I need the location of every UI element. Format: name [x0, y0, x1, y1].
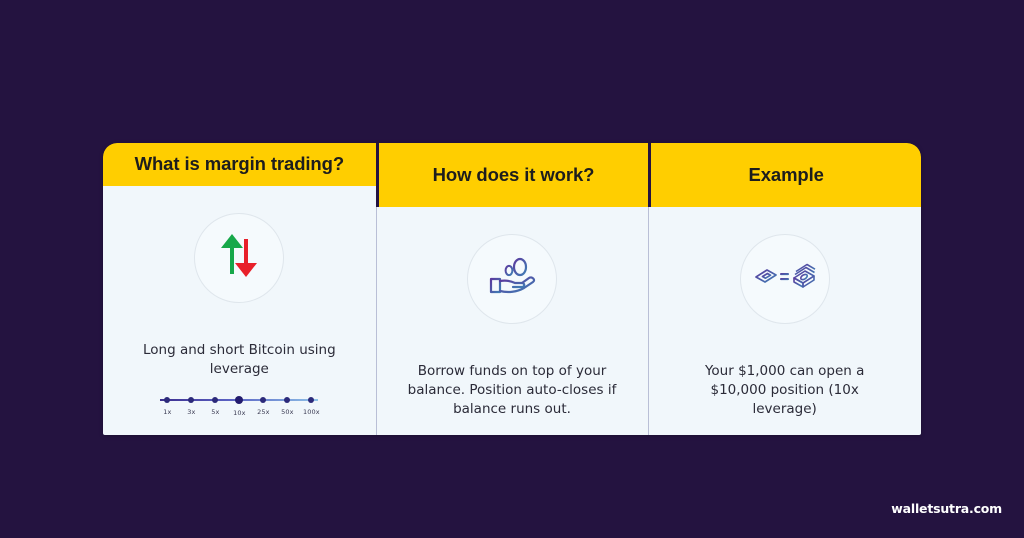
leverage-tick[interactable]: 100x [300, 395, 322, 417]
watermark: walletsutra.com [891, 501, 1002, 516]
leverage-label: 5x [211, 408, 219, 416]
leverage-tick-active[interactable]: 10x [228, 395, 250, 417]
leverage-label: 10x [233, 409, 245, 417]
leverage-tick[interactable]: 5x [204, 395, 226, 417]
leverage-scale-ticks: 1x 3x 5x 10x [156, 395, 322, 417]
leverage-dot [212, 397, 218, 403]
icon-circle-2 [467, 234, 557, 324]
leverage-tick[interactable]: 50x [276, 395, 298, 417]
leverage-label: 25x [257, 408, 269, 416]
column-caption-2: Borrow funds on top of your balance. Pos… [405, 362, 620, 419]
leverage-dot [260, 397, 266, 403]
leverage-dot [235, 396, 243, 404]
column-title-2: How does it work? [433, 164, 595, 186]
banknote-equals-stack-icon [753, 256, 817, 301]
leverage-dot [164, 397, 170, 403]
column-body-3: Your $1,000 can open a $10,000 position … [648, 207, 921, 435]
column-caption-1: Long and short Bitcoin using leverage [132, 341, 347, 379]
comparison-table: What is margin trading? Long and short B… [103, 143, 921, 435]
leverage-tick[interactable]: 1x [156, 395, 178, 417]
column-how-does-it-work: How does it work? [376, 143, 649, 435]
hand-with-coins-icon [486, 254, 538, 303]
column-caption-3: Your $1,000 can open a $10,000 position … [677, 362, 892, 419]
leverage-scale[interactable]: 1x 3x 5x 10x [156, 395, 322, 419]
column-what-is-margin-trading: What is margin trading? Long and short B… [103, 143, 376, 435]
column-header-1: What is margin trading? [103, 143, 376, 186]
column-body-1: Long and short Bitcoin using leverage 1x… [103, 186, 376, 435]
column-example: Example [648, 143, 921, 435]
leverage-label: 1x [163, 408, 171, 416]
slide-canvas: What is margin trading? Long and short B… [0, 0, 1024, 538]
leverage-dot [188, 397, 194, 403]
up-down-arrows-icon [217, 231, 261, 284]
leverage-dot [308, 397, 314, 403]
leverage-tick[interactable]: 25x [252, 395, 274, 417]
column-title-1: What is margin trading? [135, 153, 344, 175]
leverage-label: 100x [303, 408, 320, 416]
column-header-2: How does it work? [376, 143, 649, 207]
leverage-label: 50x [281, 408, 293, 416]
column-header-3: Example [648, 143, 921, 207]
icon-circle-3 [740, 234, 830, 324]
icon-circle-1 [194, 213, 284, 303]
leverage-tick[interactable]: 3x [180, 395, 202, 417]
column-title-3: Example [748, 164, 823, 186]
column-body-2: Borrow funds on top of your balance. Pos… [376, 207, 649, 435]
leverage-dot [284, 397, 290, 403]
leverage-label: 3x [187, 408, 195, 416]
